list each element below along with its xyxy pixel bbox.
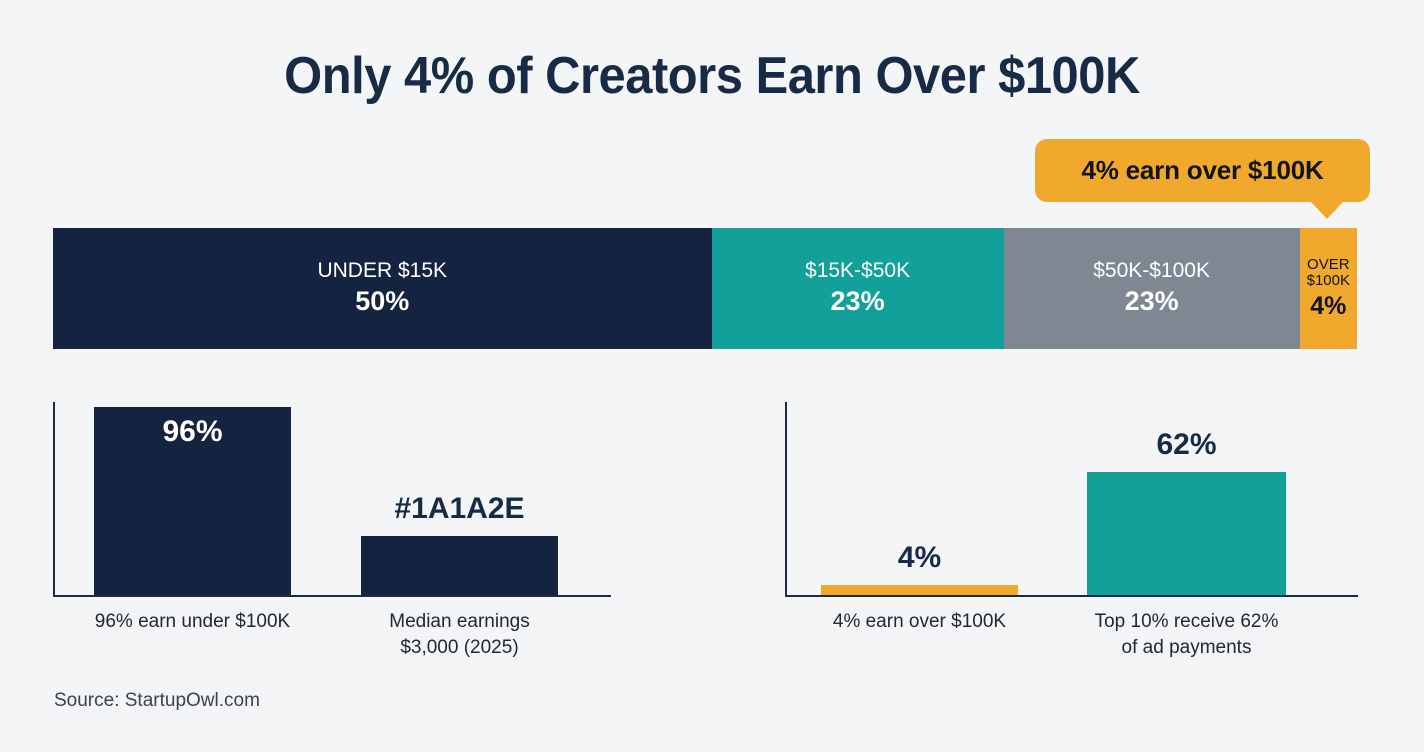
segment-label: UNDER $15K [317,259,447,283]
callout-badge-label: 4% earn over $100K [1081,155,1323,186]
page-title: Only 4% of Creators Earn Over $100K [43,48,1382,105]
category-label-median-earnings: Median earnings $3,000 (2025) [330,609,589,660]
bar-4-percent: 4% [821,585,1018,595]
segment-value: 50% [355,285,409,317]
segment-value: 23% [831,285,885,317]
category-label-4-percent: 4% earn over $100K [790,609,1049,635]
callout-badge: 4% earn over $100K [1035,139,1370,202]
segment-label: $50K-$100K [1093,259,1210,283]
category-label-top-10-percent: Top 10% receive 62% of ad payments [1057,609,1316,660]
bar-62-percent: 62% [1087,472,1286,595]
segment-value: 23% [1125,285,1179,317]
stacked-segment-50k-100k: $50K-$100K 23% [1004,228,1300,349]
infographic-canvas: Only 4% of Creators Earn Over $100K 4% e… [0,0,1424,752]
stacked-bar-chart: UNDER $15K 50% $15K-$50K 23% $50K-$100K … [53,228,1357,349]
plot-area: 4% 62% [785,400,1360,596]
stacked-segment-over-100k: OVER $100K 4% [1300,228,1357,349]
segment-value: 4% [1310,291,1346,321]
stacked-segment-under-15k: UNDER $15K 50% [53,228,712,349]
callout-pointer-icon [1310,201,1344,219]
stacked-segment-15k-50k: $15K-$50K 23% [712,228,1004,349]
category-label-96-percent: 96% earn under $100K [63,609,322,635]
segment-label: $15K-$50K [805,259,910,283]
bar-96-percent: 96% [94,407,291,595]
bar-value-label: 62% [1087,428,1286,462]
source-attribution: Source: StartupOwl.com [54,690,260,712]
plot-area: 96% #1A1A2E [53,400,613,596]
bar-value-label: #1A1A2E [361,492,558,526]
bar-median-earnings: #1A1A2E [361,536,558,595]
segment-label: OVER $100K [1307,257,1350,290]
bar-value-label: 96% [94,415,291,449]
bar-value-label: 4% [821,541,1018,575]
